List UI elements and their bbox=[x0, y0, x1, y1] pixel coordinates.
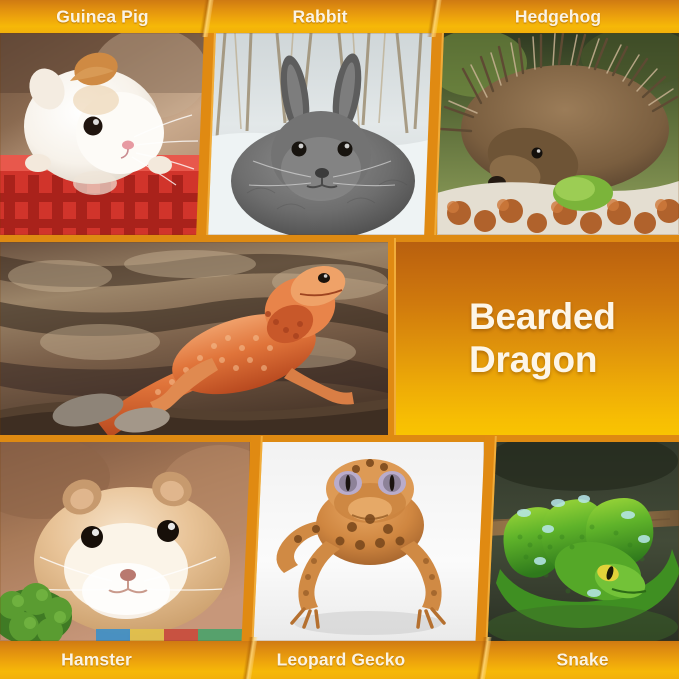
guinea-pig-photo bbox=[0, 33, 205, 235]
snake-photo bbox=[486, 441, 679, 641]
label-hedgehog: Hedgehog bbox=[437, 6, 679, 27]
feature-title: Bearded Dragon bbox=[469, 296, 616, 382]
pet-collage: Bearded Dragon bbox=[0, 0, 679, 679]
hedgehog-photo bbox=[437, 33, 679, 235]
tile-guinea-pig[interactable] bbox=[0, 33, 205, 235]
tile-bearded-dragon-photo[interactable] bbox=[0, 242, 392, 436]
feature-title-line1: Bearded bbox=[469, 296, 616, 339]
bottom-label-band: Hamster Leopard Gecko Snake bbox=[0, 641, 679, 679]
tile-leopard-gecko[interactable] bbox=[252, 441, 484, 641]
label-snake: Snake bbox=[486, 650, 679, 671]
top-label-band: Guinea Pig Rabbit Hedgehog bbox=[0, 0, 679, 33]
feature-title-line2: Dragon bbox=[469, 339, 616, 382]
label-hamster: Hamster bbox=[0, 650, 193, 671]
bearded-dragon-photo bbox=[0, 242, 392, 436]
gutter-row1-row2 bbox=[0, 235, 679, 242]
label-leopard-gecko: Leopard Gecko bbox=[252, 650, 430, 671]
tile-hedgehog[interactable] bbox=[437, 33, 679, 235]
label-rabbit: Rabbit bbox=[207, 6, 433, 27]
hamster-photo bbox=[0, 441, 250, 641]
gutter-highlight bbox=[394, 238, 396, 440]
label-guinea-pig: Guinea Pig bbox=[0, 6, 205, 27]
tile-rabbit[interactable] bbox=[207, 33, 433, 235]
leopard-gecko-photo bbox=[252, 441, 484, 641]
rabbit-photo bbox=[207, 33, 433, 235]
tile-feature-card[interactable]: Bearded Dragon bbox=[394, 242, 679, 436]
tile-snake[interactable] bbox=[486, 441, 679, 641]
gutter-row2-photo-card bbox=[388, 238, 396, 440]
tile-hamster[interactable] bbox=[0, 441, 250, 641]
gutter-row2-row3 bbox=[0, 435, 679, 442]
